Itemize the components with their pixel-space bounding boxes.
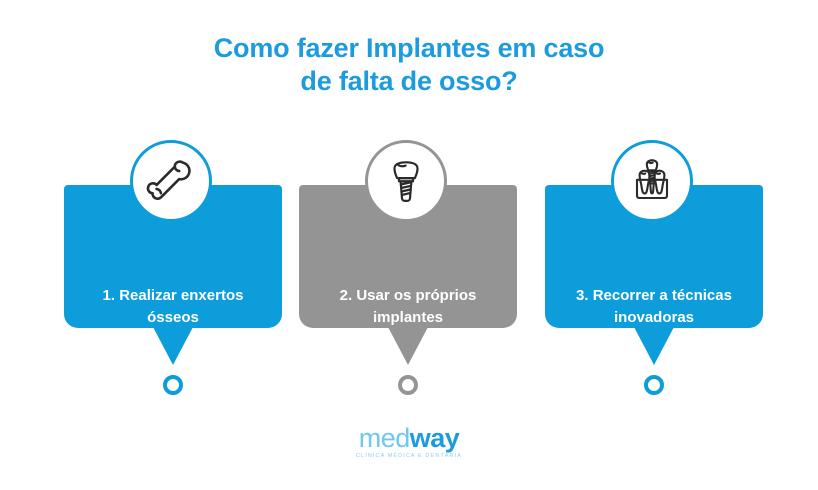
teeth-with-implant-icon bbox=[626, 155, 678, 207]
step-card-2-pointer bbox=[388, 327, 428, 365]
page-title: Como fazer Implantes em caso de falta de… bbox=[0, 32, 818, 98]
step-card-1-label: 1. Realizar enxertos ósseos bbox=[72, 285, 274, 329]
step-card-1-label-line-2: ósseos bbox=[147, 309, 199, 326]
step-card-1-label-line-1: 1. Realizar enxertos bbox=[103, 287, 244, 304]
step-card-3-dot bbox=[644, 375, 664, 395]
step-card-3-label-line-1: 3. Recorrer a técnicas bbox=[576, 287, 732, 304]
logo-word-part-2: way bbox=[410, 423, 460, 453]
step-card-3-pointer bbox=[634, 327, 674, 365]
bone-icon bbox=[145, 155, 197, 207]
step-card-3-icon-circle bbox=[611, 140, 693, 222]
step-card-3: 3. Recorrer a técnicas inovadoras bbox=[545, 138, 763, 403]
step-card-1-pointer bbox=[153, 327, 193, 365]
step-card-2-label: 2. Usar os próprios implantes bbox=[307, 285, 509, 329]
step-card-2-label-line-2: implantes bbox=[373, 309, 443, 326]
step-card-2: 2. Usar os próprios implantes bbox=[299, 138, 517, 403]
page-title-line-2: de falta de osso? bbox=[0, 65, 818, 98]
step-card-1-icon-circle bbox=[130, 140, 212, 222]
step-card-1: 1. Realizar enxertos ósseos bbox=[64, 138, 282, 403]
brand-logo: medway CLÍNICA MÉDICA E DENTÁRIA bbox=[0, 424, 818, 459]
step-card-3-label: 3. Recorrer a técnicas inovadoras bbox=[553, 285, 755, 329]
page-title-line-1: Como fazer Implantes em caso bbox=[0, 32, 818, 65]
step-card-3-label-line-2: inovadoras bbox=[614, 309, 694, 326]
logo-word-part-1: med bbox=[359, 423, 410, 453]
logo-wordmark: medway bbox=[0, 424, 818, 452]
dental-implant-screw-icon bbox=[380, 155, 432, 207]
step-card-1-dot bbox=[163, 375, 183, 395]
step-card-2-dot bbox=[398, 375, 418, 395]
logo-tagline: CLÍNICA MÉDICA E DENTÁRIA bbox=[0, 453, 818, 459]
step-card-2-label-line-1: 2. Usar os próprios bbox=[340, 287, 477, 304]
infographic-page: Como fazer Implantes em caso de falta de… bbox=[0, 0, 818, 490]
step-card-2-icon-circle bbox=[365, 140, 447, 222]
steps-container: 1. Realizar enxertos ósseos bbox=[0, 138, 818, 408]
